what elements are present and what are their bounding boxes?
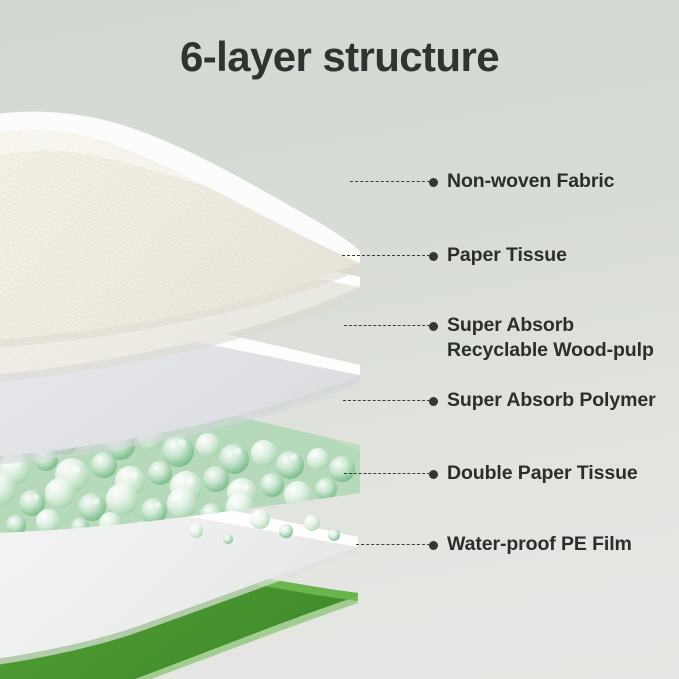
- layer-structure-infographic: 6-layer structure: [0, 0, 679, 679]
- callout-label-double-paper-tissue: Double Paper Tissue: [447, 461, 638, 486]
- leader-dot: [429, 322, 438, 331]
- leader-dot: [429, 252, 438, 261]
- leader-line: [344, 325, 430, 326]
- leader-dot: [429, 541, 438, 550]
- leader-dot: [429, 397, 438, 406]
- callout-label-line-2: Recyclable Wood-pulp: [447, 339, 654, 361]
- callout-label-wood-pulp: Super AbsorbRecyclable Wood-pulp: [447, 313, 654, 363]
- callout-label-line-1: Super Absorb: [447, 314, 574, 336]
- callout-label-non-woven-fabric: Non-woven Fabric: [447, 169, 614, 194]
- leader-line: [356, 544, 430, 545]
- layer-stack-illustration: [0, 95, 420, 655]
- leader-line: [342, 255, 430, 256]
- leader-dot: [429, 178, 438, 187]
- callout-label-paper-tissue: Paper Tissue: [447, 243, 567, 268]
- callout-label-super-absorb-polymer: Super Absorb Polymer: [447, 388, 656, 413]
- leader-line: [344, 473, 430, 474]
- page-title: 6-layer structure: [0, 33, 679, 81]
- leader-line: [350, 181, 430, 182]
- leader-dot: [429, 470, 438, 479]
- leader-line: [343, 400, 430, 401]
- callout-label-water-proof-pe-film: Water-proof PE Film: [447, 532, 632, 557]
